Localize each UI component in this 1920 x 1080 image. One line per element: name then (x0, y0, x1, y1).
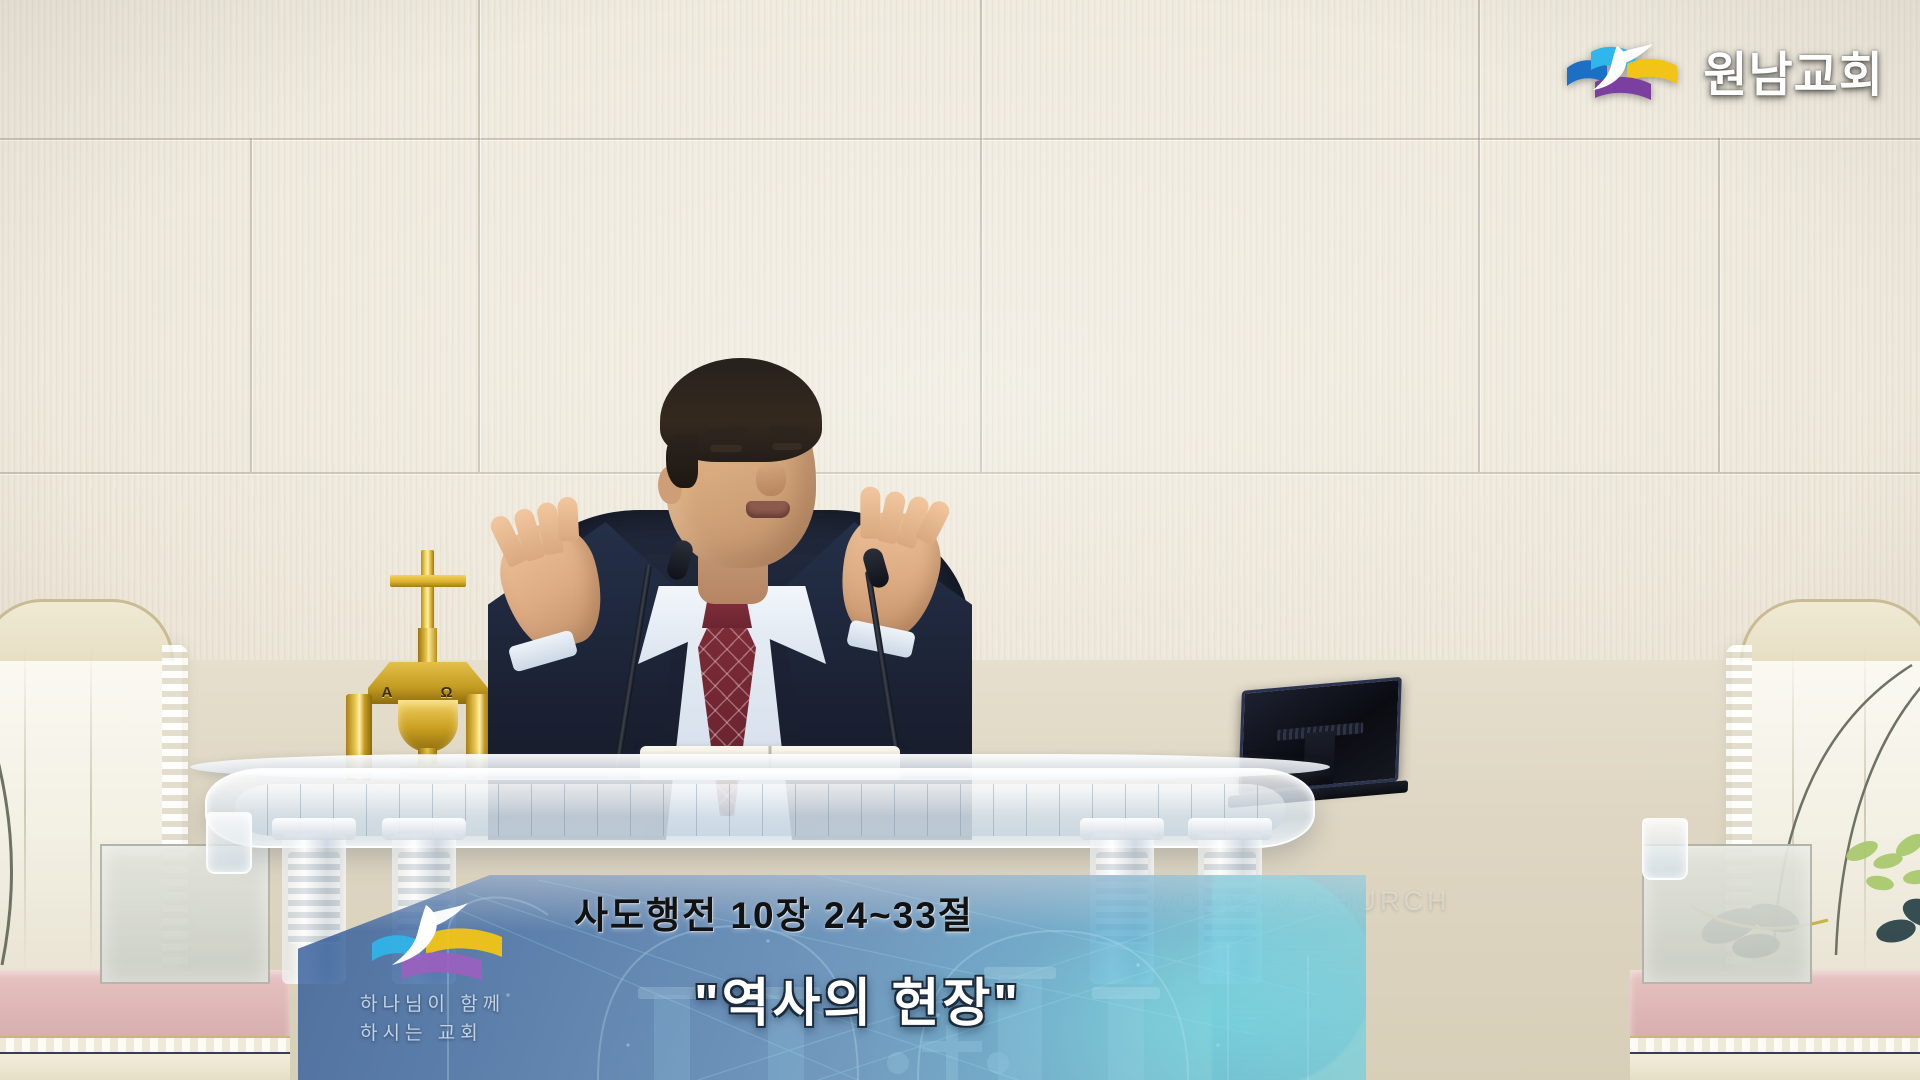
cross-horizontal-bar (390, 575, 466, 587)
gold-chalice-bowl (398, 700, 458, 752)
dove-ribbon-emblem-icon (1565, 38, 1685, 102)
finger (860, 487, 880, 539)
bench-skirt (0, 1054, 290, 1080)
left-pew-bench (0, 970, 290, 1080)
preacher-nose (756, 462, 786, 496)
church-logo-text: 원남교회 (1703, 35, 1884, 105)
column-capital (1188, 818, 1272, 840)
church-logo: 원남교회 (1565, 30, 1884, 110)
video-frame: Α Ω (0, 0, 1920, 1080)
preacher-mouth (746, 501, 790, 518)
eye-right (772, 443, 802, 450)
cross-vertical-bar (421, 550, 434, 632)
sermon-title: "역사의 현장" (694, 961, 1021, 1036)
column-capital (382, 818, 466, 840)
water-glass (1642, 818, 1688, 880)
monitor-stand (1303, 731, 1336, 787)
bench-skirt (1630, 1054, 1920, 1080)
church-slogan: 하나님이 함께 하시는 교회 (360, 991, 505, 1048)
finger (557, 496, 579, 541)
banner-rounded-end (1212, 875, 1366, 1080)
water-glass (206, 812, 252, 874)
column-ornament (288, 852, 340, 944)
lower-third-banner: 하나님이 함께 하시는 교회 사도행전 10장 24~33절 "역사의 현장" (298, 875, 1366, 1080)
scripture-reference: 사도행전 10장 24~33절 (574, 885, 974, 939)
column-capital (1080, 818, 1164, 840)
column-capital (272, 818, 356, 840)
slogan-line-1: 하나님이 함께 (360, 991, 505, 1020)
eye-left (710, 445, 742, 452)
slogan-line-2: 하시는 교회 (360, 1020, 505, 1049)
